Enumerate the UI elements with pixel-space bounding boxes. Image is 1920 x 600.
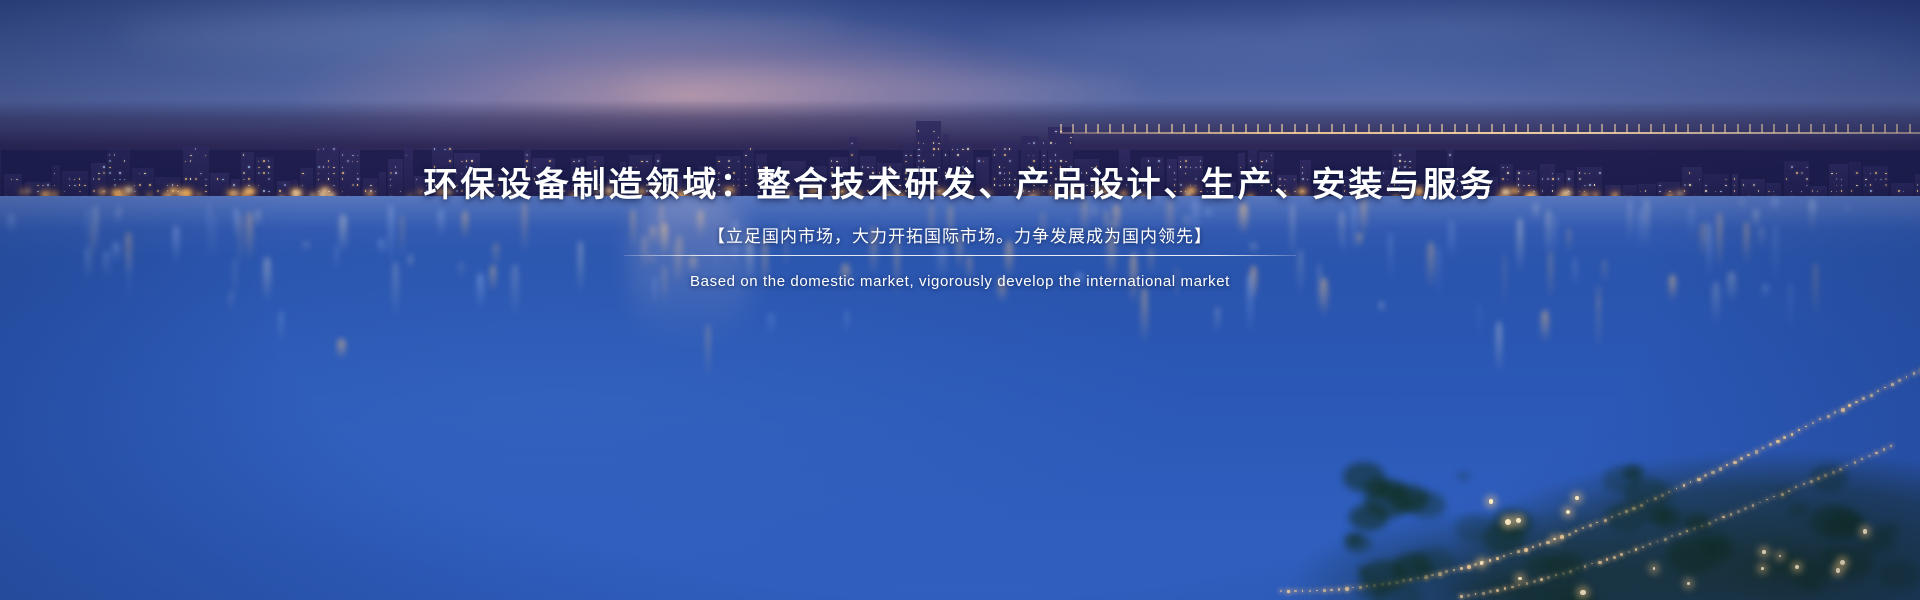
banner-subtitle-group: 【立足国内市场，大力开拓国际市场。力争发展成为国内领先】 Based on th… <box>624 228 1296 290</box>
hero-banner: 环保设备制造领域：整合技术研发、产品设计、生产、安装与服务 【立足国内市场，大力… <box>0 0 1920 600</box>
banner-headline: 环保设备制造领域：整合技术研发、产品设计、生产、安装与服务 <box>424 168 1497 202</box>
subtitle-divider <box>624 255 1296 256</box>
banner-subtitle: 【立足国内市场，大力开拓国际市场。力争发展成为国内领先】 <box>708 228 1212 247</box>
banner-english-tagline: Based on the domestic market, vigorously… <box>690 273 1230 290</box>
banner-text-block: 环保设备制造领域：整合技术研发、产品设计、生产、安装与服务 【立足国内市场，大力… <box>0 0 1920 600</box>
